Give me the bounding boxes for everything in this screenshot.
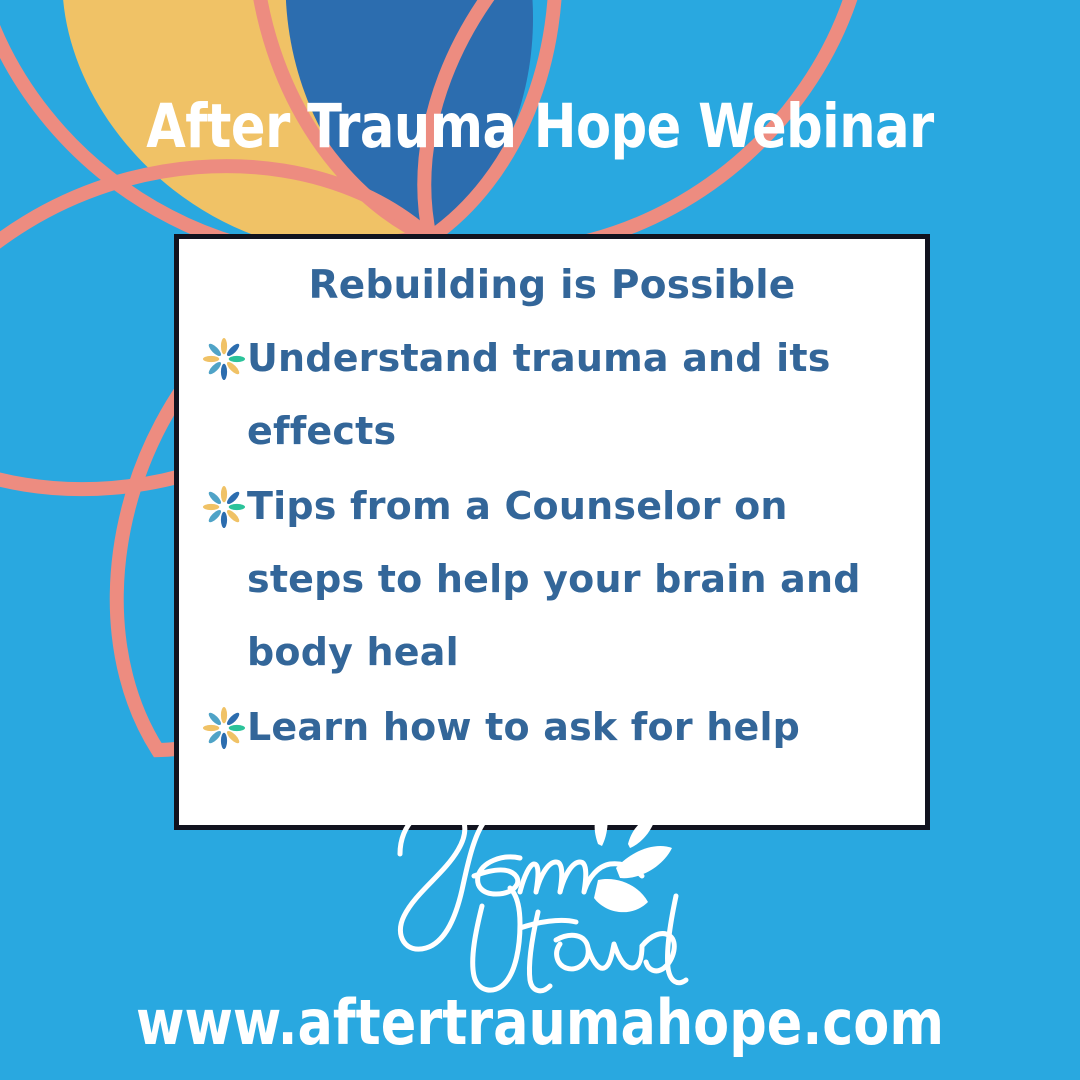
list-item-label: Understand trauma and its effects [247,322,909,468]
flower-burst-icon [201,336,247,382]
list-item: Learn how to ask for help [195,691,909,764]
signature-J [400,807,484,949]
content-card: Rebuilding is Possible Understand [174,234,930,830]
website-url: www.aftertraumahope.com [32,992,1047,1054]
signature-n1 [520,862,562,892]
signature-H-loop [473,888,520,990]
list-item-label: Tips from a Counselor on steps to help y… [247,470,909,689]
page-title: After Trauma Hope Webinar [38,96,1042,157]
signature-H-bar [520,920,576,928]
flower-burst-icon [201,484,247,530]
list-item: Tips from a Counselor on steps to help y… [195,470,909,689]
signature-a [556,935,588,969]
flower-burst-icon [201,705,247,751]
list-item-label: Learn how to ask for help [247,691,800,764]
signature-d-stem [667,896,686,983]
webinar-poster: After Trauma Hope Webinar Rebuilding is … [0,0,1080,1080]
signature-n3 [588,944,642,968]
card-heading: Rebuilding is Possible [195,263,909,310]
leaf-sprout-icon [594,804,672,912]
jenn-hand-signature-logo [370,788,720,1003]
list-item: Understand trauma and its effects [195,322,909,468]
